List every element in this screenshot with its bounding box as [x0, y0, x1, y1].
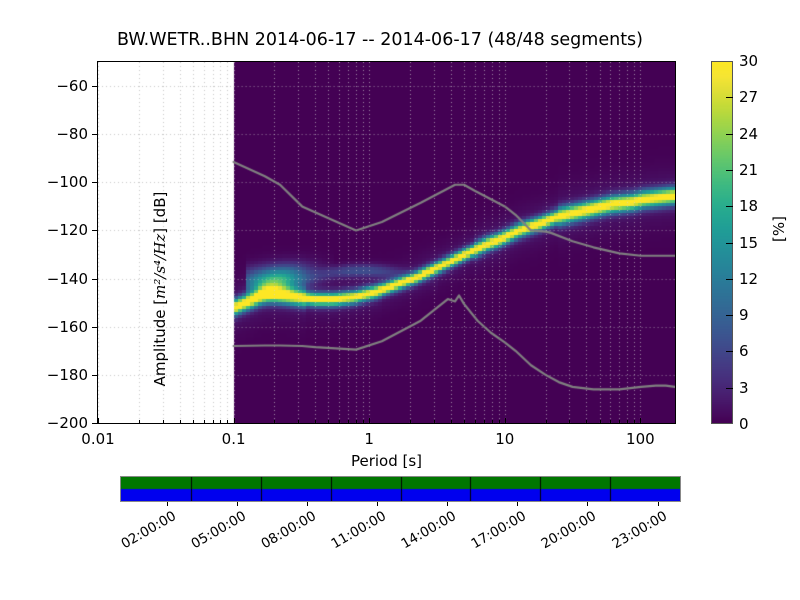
- y-axis-label-prefix: Amplitude [: [151, 299, 169, 387]
- y-axis-tick-label: −120: [44, 221, 88, 239]
- colorbar-tick-mark: [726, 315, 733, 316]
- x-axis-minor-tick: [464, 420, 465, 424]
- colorbar-tick-label: 21: [739, 161, 758, 179]
- x-axis-minor-tick: [315, 420, 316, 424]
- colorbar-tick-mark: [726, 243, 733, 244]
- x-axis-minor-tick: [619, 420, 620, 424]
- y-axis-tick-mark: [92, 375, 98, 376]
- x-axis-tick-mark: [98, 418, 99, 424]
- x-axis-minor-tick: [163, 420, 164, 424]
- colorbar-tick-mark: [726, 134, 733, 135]
- y-axis-label-math: m²/s⁴/Hz: [151, 234, 169, 299]
- colorbar-tick-label: 9: [739, 306, 749, 324]
- x-axis-tick-mark: [369, 418, 370, 424]
- timeline-tick-label: 17:00:00: [454, 508, 530, 561]
- timeline-tick-label: 20:00:00: [524, 508, 600, 561]
- x-axis-minor-tick: [204, 420, 205, 424]
- timeline-tick-label: 02:00:00: [103, 508, 179, 561]
- y-axis-ticklabels: −60−80−100−120−140−160−180−200: [36, 0, 88, 600]
- colorbar-tick-label: 30: [739, 52, 758, 70]
- y-axis-tick-label: −180: [44, 366, 88, 384]
- timeline-tick-mark: [587, 502, 588, 506]
- y-axis-tick-mark: [92, 230, 98, 231]
- noise-model-overlay-canvas: [98, 62, 675, 423]
- colorbar-label: [%]: [770, 216, 788, 242]
- timeline-tick-mark: [307, 502, 308, 506]
- x-axis-tick-label: 0.1: [222, 430, 246, 448]
- x-axis-minor-tick: [434, 420, 435, 424]
- y-axis-tick-label: −60: [44, 77, 88, 95]
- colorbar-tick-mark: [726, 351, 733, 352]
- y-axis-tick-mark: [92, 327, 98, 328]
- x-axis-minor-tick: [339, 420, 340, 424]
- timeline-tick-mark: [237, 502, 238, 506]
- timeline-tick-mark: [377, 502, 378, 506]
- x-axis-minor-tick: [274, 420, 275, 424]
- timeline-tick-label: 05:00:00: [173, 508, 249, 561]
- y-axis-tick-mark: [92, 134, 98, 135]
- timeline-tick-mark: [658, 502, 659, 506]
- y-axis-tick-label: −160: [44, 318, 88, 336]
- x-axis-minor-tick: [546, 420, 547, 424]
- figure-title: BW.WETR..BHN 2014-06-17 -- 2014-06-17 (4…: [0, 30, 760, 50]
- y-axis-tick-mark: [92, 86, 98, 87]
- ppsd-figure: BW.WETR..BHN 2014-06-17 -- 2014-06-17 (4…: [0, 0, 800, 600]
- x-axis-minor-tick: [348, 420, 349, 424]
- x-axis-minor-tick: [356, 420, 357, 424]
- x-axis-minor-tick: [410, 420, 411, 424]
- colorbar-tick-mark: [726, 388, 733, 389]
- x-axis-minor-tick: [363, 420, 364, 424]
- data-coverage-timeline[interactable]: [120, 476, 681, 502]
- y-axis-tick-label: −100: [44, 173, 88, 191]
- y-axis-tick-label: −80: [44, 125, 88, 143]
- x-axis-minor-tick: [213, 420, 214, 424]
- y-axis-tick-mark: [92, 279, 98, 280]
- timeline-tick-mark: [167, 502, 168, 506]
- x-axis-minor-tick: [451, 420, 452, 424]
- x-axis-minor-tick: [499, 420, 500, 424]
- y-axis-tick-mark: [92, 182, 98, 183]
- x-axis-minor-tick: [586, 420, 587, 424]
- x-axis-minor-tick: [634, 420, 635, 424]
- timeline-bands-canvas: [121, 477, 680, 501]
- x-axis-minor-tick: [328, 420, 329, 424]
- y-axis-tick-label: −140: [44, 270, 88, 288]
- x-axis-minor-tick: [492, 420, 493, 424]
- colorbar-tick-label: 24: [739, 125, 758, 143]
- colorbar-tick-label: 15: [739, 234, 758, 252]
- x-axis-tick-mark: [505, 418, 506, 424]
- x-axis-minor-tick: [298, 420, 299, 424]
- x-axis-tick-label: 1: [364, 430, 374, 448]
- x-axis-minor-tick: [220, 420, 221, 424]
- x-axis-minor-tick: [180, 420, 181, 424]
- x-axis-minor-tick: [193, 420, 194, 424]
- colorbar-tick-mark: [726, 170, 733, 171]
- timeline-tick-label: 14:00:00: [384, 508, 460, 561]
- y-axis-label-suffix: ] [dB]: [151, 192, 169, 234]
- timeline-tick-label: 11:00:00: [314, 508, 390, 561]
- timeline-tick-mark: [517, 502, 518, 506]
- colorbar-tick-mark: [726, 97, 733, 98]
- x-axis-minor-tick: [227, 420, 228, 424]
- x-axis-minor-tick: [600, 420, 601, 424]
- colorbar-tick-label: 12: [739, 270, 758, 288]
- timeline-tick-label: 23:00:00: [594, 508, 670, 561]
- y-axis-label: Amplitude [m²/s⁴/Hz] [dB]: [151, 144, 169, 434]
- colorbar-tick-mark: [726, 279, 733, 280]
- x-axis-minor-tick: [610, 420, 611, 424]
- x-axis-minor-tick: [475, 420, 476, 424]
- ppsd-plot-area[interactable]: [97, 61, 676, 424]
- colorbar-tick-label: 3: [739, 379, 749, 397]
- x-axis-tick-label: 10: [495, 430, 514, 448]
- timeline-tick-label: 08:00:00: [243, 508, 319, 561]
- x-axis-tick-mark: [234, 418, 235, 424]
- x-axis-tick-label: 100: [626, 430, 655, 448]
- timeline-tick-mark: [447, 502, 448, 506]
- x-axis-tick-mark: [640, 418, 641, 424]
- x-axis-minor-tick: [484, 420, 485, 424]
- x-axis-tick-label: 0.01: [81, 430, 114, 448]
- x-axis-minor-tick: [627, 420, 628, 424]
- colorbar-tick-label: 6: [739, 342, 749, 360]
- colorbar-tick-label: 0: [739, 415, 749, 433]
- colorbar-tick-mark: [726, 206, 733, 207]
- x-axis-minor-tick: [139, 420, 140, 424]
- x-axis-minor-tick: [569, 420, 570, 424]
- x-axis-label: Period [s]: [97, 452, 676, 470]
- colorbar-tick-label: 27: [739, 88, 758, 106]
- colorbar-tick-label: 18: [739, 197, 758, 215]
